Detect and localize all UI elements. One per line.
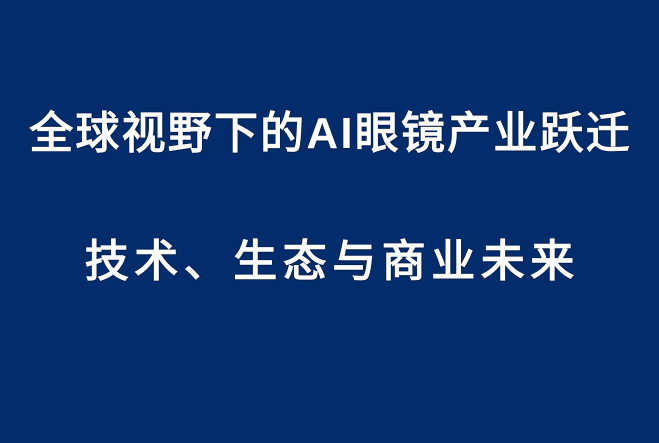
title-block: 全球视野下的AI眼镜产业跃迁 技术、生态与商业未来 (0, 0, 659, 443)
title-slide: 全球视野下的AI眼镜产业跃迁 技术、生态与商业未来 (0, 0, 659, 443)
slide-title-line-1: 全球视野下的AI眼镜产业跃迁 (27, 112, 632, 156)
slide-title-line-2: 技术、生态与商业未来 (79, 240, 580, 284)
